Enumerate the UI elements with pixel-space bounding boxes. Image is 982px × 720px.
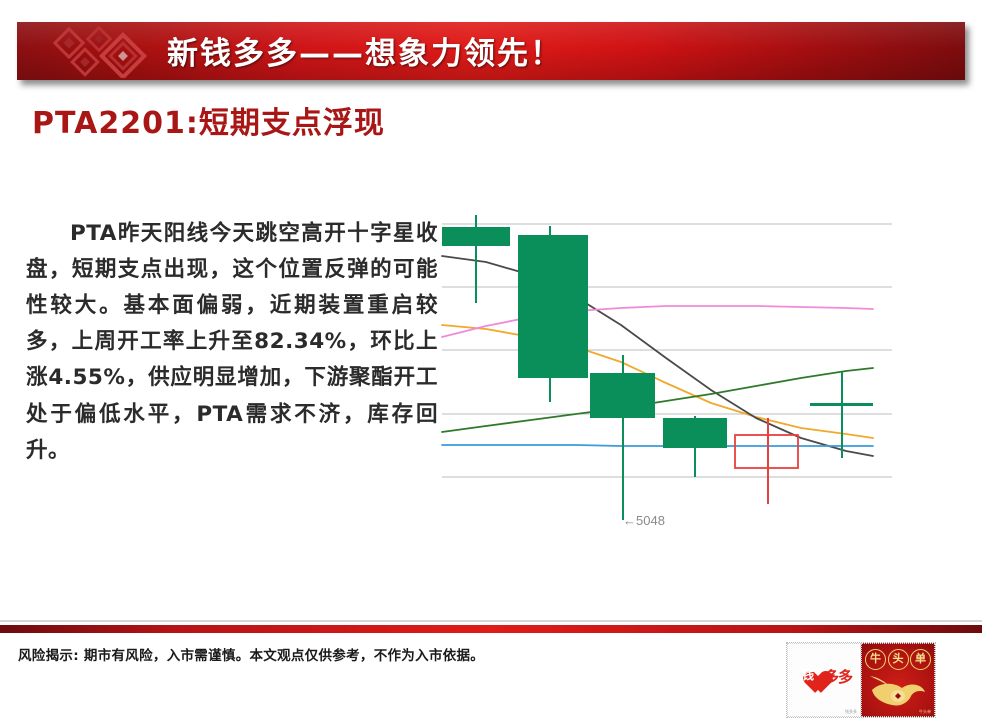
- candle-body: [442, 227, 510, 246]
- candle-3: [663, 416, 727, 477]
- chart-annotations: ←5048: [623, 513, 665, 528]
- analysis-body-text: PTA昨天阳线今天跳空高开十字星收盘，短期支点出现，这个位置反弹的可能性较大。基…: [26, 216, 438, 469]
- niu-char-2: 头: [888, 649, 909, 670]
- candle-body: [810, 403, 873, 406]
- bull-head-icon: [868, 670, 928, 710]
- stamp-left-microtext: 钱多多: [845, 709, 857, 715]
- qianduoduo-stamp: 钱 多多 钱多多: [787, 643, 861, 717]
- niu-char-3: 单: [910, 649, 931, 670]
- stamp-left-label: 多多: [824, 666, 852, 687]
- stamp-heart-char: 钱: [802, 666, 814, 683]
- footer-divider-thin: [0, 620, 982, 622]
- footer-divider: [0, 625, 982, 633]
- niu-char-row: 牛 头 单: [865, 649, 931, 670]
- candle-body: [518, 235, 588, 378]
- stamp-right-microtext: 牛头单: [919, 709, 931, 715]
- ma-line-MA-orange: [442, 325, 873, 438]
- moving-average-lines: [442, 256, 873, 456]
- risk-disclaimer: 风险揭示: 期市有风险，入市需谨慎。本文观点仅供参考，不作为入市依据。: [18, 648, 658, 666]
- candle-1: [518, 226, 588, 402]
- candle-body: [735, 435, 798, 468]
- candle-0: [442, 215, 510, 303]
- candle-2: [590, 355, 655, 520]
- header-banner: 新钱多多——想象力领先！: [17, 22, 965, 80]
- qianduoduo-diamond-logo: [41, 26, 171, 78]
- niu-char-1: 牛: [865, 649, 886, 670]
- niutoudan-stamp: 牛 头 单 牛头单: [861, 643, 935, 717]
- candlestick-chart: ←5048: [436, 200, 906, 540]
- candle-body: [590, 373, 655, 418]
- header-title: 新钱多多——想象力领先！: [167, 28, 563, 73]
- ma-line-MA-blue: [442, 445, 873, 446]
- ma-line-MA-green: [442, 368, 873, 432]
- candle-body: [663, 418, 727, 448]
- candle-4: [735, 418, 798, 504]
- brand-stamps: 钱 多多 钱多多 牛 头 单 牛头单: [786, 642, 936, 718]
- chart-annotation-0: ←5048: [623, 513, 665, 528]
- ma-line-MA-darkgray: [442, 256, 873, 456]
- page-title: PTA2201:短期支点浮现: [32, 104, 432, 143]
- chart-canvas: ←5048: [436, 200, 906, 540]
- candlestick-series: [442, 215, 873, 520]
